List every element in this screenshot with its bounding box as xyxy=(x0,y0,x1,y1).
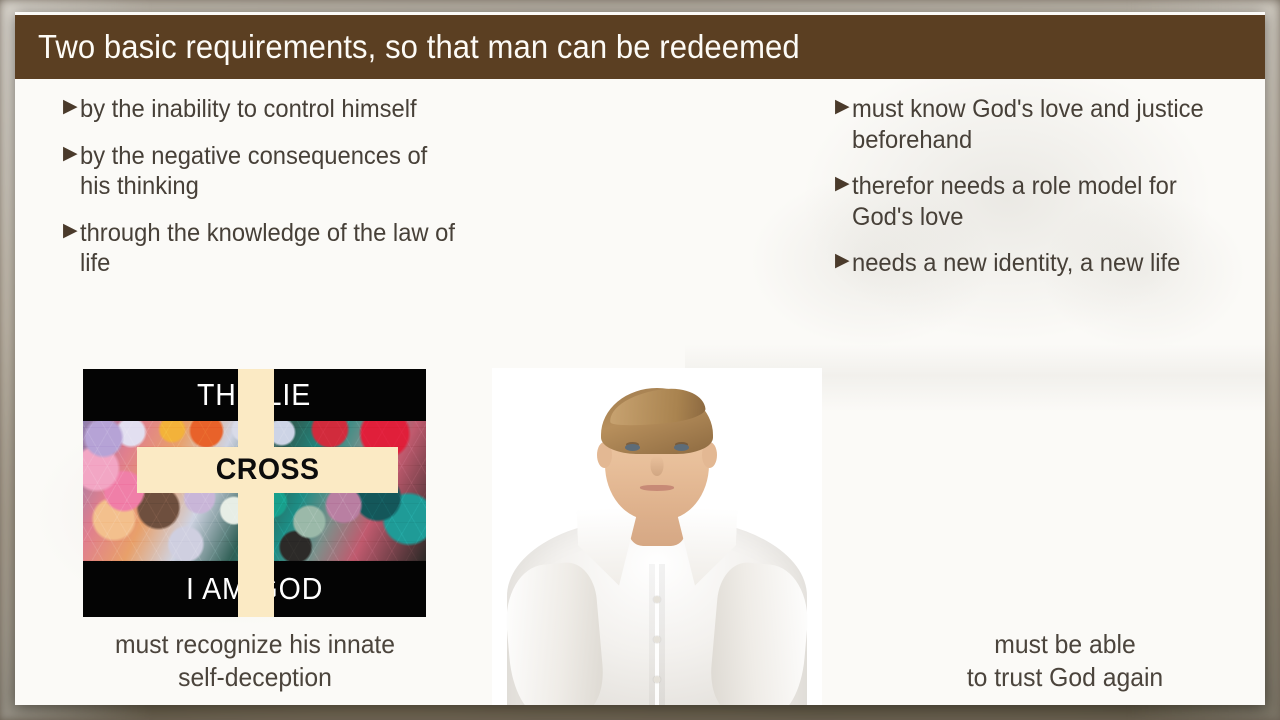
slide-title: Two basic requirements, so that man can … xyxy=(38,28,800,66)
bullet-text: therefor needs a role model for God's lo… xyxy=(852,171,1235,232)
triangle-bullet-icon: ▶ xyxy=(63,94,78,121)
portrait-photo xyxy=(492,368,822,705)
triangle-bullet-icon: ▶ xyxy=(835,248,850,275)
bullet-item: ▶ must know God's love and justice befor… xyxy=(835,94,1255,155)
right-caption: must be able to trust God again xyxy=(895,628,1235,695)
bullet-text: through the knowledge of the law of life xyxy=(80,218,463,279)
cross-horizontal-bar-icon: CROSS xyxy=(137,447,398,493)
left-caption-line-1: must recognize his innate xyxy=(84,628,426,661)
bullet-item: ▶ by the negative consequences of his th… xyxy=(63,141,483,202)
triangle-bullet-icon: ▶ xyxy=(835,94,850,121)
shirt-placket xyxy=(649,564,665,705)
shirt-arm-left xyxy=(502,560,607,705)
left-bullet-column: ▶ by the inability to control himself ▶ … xyxy=(63,94,483,295)
slide-stage: Two basic requirements, so that man can … xyxy=(0,0,1280,720)
triangle-bullet-icon: ▶ xyxy=(63,218,78,245)
shirt-button xyxy=(654,676,661,683)
shirt-button xyxy=(654,636,661,643)
right-bullet-column: ▶ must know God's love and justice befor… xyxy=(835,94,1255,295)
bullet-item: ▶ through the knowledge of the law of li… xyxy=(63,218,483,279)
bullet-text: by the negative consequences of his thin… xyxy=(80,141,463,202)
eye-right xyxy=(674,444,689,451)
title-bar: Two basic requirements, so that man can … xyxy=(15,15,1265,79)
bullet-item: ▶ needs a new identity, a new life xyxy=(835,248,1255,279)
left-caption-line-2: self-deception xyxy=(84,661,426,694)
right-caption-line-1: must be able xyxy=(904,628,1227,661)
eye-left xyxy=(625,444,640,451)
bullet-item: ▶ therefor needs a role model for God's … xyxy=(835,171,1255,232)
bullet-text: must know God's love and justice beforeh… xyxy=(852,94,1235,155)
right-caption-line-2: to trust God again xyxy=(904,661,1227,694)
triangle-bullet-icon: ▶ xyxy=(835,171,850,198)
presentation-slide: Two basic requirements, so that man can … xyxy=(15,12,1265,705)
shirt-button xyxy=(654,596,661,603)
shirt-arm-right xyxy=(708,560,813,705)
bullet-text: by the inability to control himself xyxy=(80,94,463,125)
bullet-text: needs a new identity, a new life xyxy=(852,248,1235,279)
cross-image: THE LIE I AM GOD CROSS xyxy=(83,369,426,617)
cross-vertical-bar-icon xyxy=(238,369,274,617)
triangle-bullet-icon: ▶ xyxy=(63,141,78,168)
cross-label: CROSS xyxy=(216,453,320,487)
nose xyxy=(651,456,664,476)
bullet-item: ▶ by the inability to control himself xyxy=(63,94,483,125)
mouth xyxy=(640,485,674,491)
left-caption: must recognize his innate self-deception xyxy=(75,628,435,695)
